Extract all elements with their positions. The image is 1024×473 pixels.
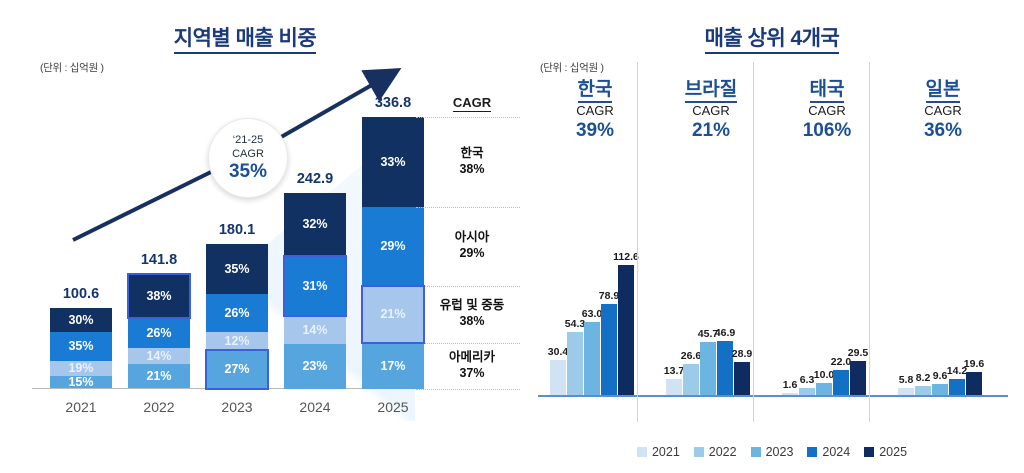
cagr-guide-line (416, 389, 520, 390)
country-bar-브라질-2023[interactable]: 45.7 (700, 342, 716, 395)
legend-swatch-icon (807, 447, 817, 457)
legend-item-2025[interactable]: 2025 (864, 445, 907, 459)
country-cagr-label: CAGR (656, 102, 766, 119)
regional-revenue-panel: 지역별 매출 비중 (단위 : 십억원 ) ‘21-25 CAGR 35% 10… (0, 0, 520, 473)
bar-segment-한국[interactable]: 38% (128, 274, 190, 318)
country-bar-태국-2023[interactable]: 10.0 (816, 383, 832, 395)
country-baseline (538, 395, 1008, 397)
slide-canvas: 지역별 매출 비중 (단위 : 십억원 ) ‘21-25 CAGR 35% 10… (0, 0, 1024, 473)
bar-segment-아메리카[interactable]: 17% (362, 343, 424, 389)
legend-label: 2021 (652, 445, 680, 459)
country-name: 한국 (540, 78, 650, 102)
bar-segment-유럽 및 중동[interactable]: 19% (50, 361, 112, 376)
bar-segment-아시아[interactable]: 31% (284, 256, 346, 317)
column-total-label: 336.8 (375, 95, 411, 111)
column-total-label: 100.6 (63, 286, 99, 302)
cagr-bubble-period: ‘21-25 (233, 133, 264, 147)
region-cagr-value: 37% (424, 365, 520, 381)
bar-segment-유럽 및 중동[interactable]: 21% (362, 286, 424, 343)
stacked-column-2025[interactable]: 336.833%29%21%17%2025 (362, 117, 424, 389)
country-bar-태국-2024[interactable]: 22.0 (833, 370, 849, 395)
stacked-column-2023[interactable]: 180.135%26%12%27%2023 (206, 244, 268, 389)
region-name: 한국 (424, 145, 520, 161)
country-header-태국[interactable]: 태국CAGR106% (772, 78, 882, 142)
cagr-guide-line (416, 343, 520, 344)
bar-segment-아시아[interactable]: 26% (128, 318, 190, 348)
right-unit-label: (단위 : 십억원 ) (540, 60, 604, 75)
bar-segment-아메리카[interactable]: 21% (128, 364, 190, 388)
country-cagr-value: 36% (888, 119, 998, 142)
bar-segment-유럽 및 중동[interactable]: 14% (284, 316, 346, 343)
x-axis-label-2022: 2022 (143, 399, 174, 415)
legend-swatch-icon (694, 447, 704, 457)
x-axis-label-2024: 2024 (299, 399, 330, 415)
bar-value-label: 8.2 (916, 372, 931, 384)
country-name: 브라질 (656, 78, 766, 102)
top-countries-panel: 매출 상위 4개국 (단위 : 십억원 ) 30.454.363.078.911… (520, 0, 1024, 473)
cagr-legend-header: CAGR (424, 95, 520, 110)
country-header-한국[interactable]: 한국CAGR39% (540, 78, 650, 142)
bar-segment-아시아[interactable]: 26% (206, 294, 268, 332)
country-bar-group-태국: 1.66.310.022.029.5 (782, 361, 866, 395)
bar-segment-아시아[interactable]: 29% (362, 207, 424, 286)
bar-value-label: 29.5 (848, 347, 868, 359)
country-bar-group-한국: 30.454.363.078.9112.6 (550, 265, 634, 395)
column-total-label: 180.1 (219, 222, 255, 238)
country-cagr-value: 21% (656, 119, 766, 142)
x-axis-label-2025: 2025 (377, 399, 408, 415)
region-name: 아메리카 (424, 349, 520, 365)
left-chart-title: 지역별 매출 비중 (30, 22, 460, 55)
country-header-일본[interactable]: 일본CAGR36% (888, 78, 998, 142)
country-bar-한국-2025[interactable]: 112.6 (618, 265, 634, 395)
stacked-column-2021[interactable]: 100.630%35%19%15%2021 (50, 308, 112, 389)
country-bars-plot: 30.454.363.078.9112.613.726.645.746.928.… (520, 240, 1024, 425)
country-bar-group-브라질: 13.726.645.746.928.9 (666, 341, 750, 395)
country-bar-브라질-2024[interactable]: 46.9 (717, 341, 733, 395)
region-cagr-value: 29% (424, 245, 520, 261)
region-cagr-legend: CAGR 한국38%아시아29%유럽 및 중동38%아메리카37% (424, 95, 520, 425)
bar-segment-한국[interactable]: 32% (284, 193, 346, 256)
column-total-label: 141.8 (141, 252, 177, 268)
bar-value-label: 30.4 (548, 346, 568, 358)
legend-label: 2023 (766, 445, 794, 459)
country-bar-한국-2022[interactable]: 54.3 (567, 332, 583, 395)
stacked-bar: 32%31%14%23% (284, 193, 346, 389)
bar-segment-아메리카[interactable]: 15% (50, 376, 112, 388)
country-bar-일본-2024[interactable]: 14.2 (949, 379, 965, 395)
country-bar-group-일본: 5.88.29.614.219.6 (898, 372, 982, 395)
legend-label: 2024 (822, 445, 850, 459)
bar-value-label: 1.6 (783, 379, 798, 391)
region-name: 아시아 (424, 229, 520, 245)
country-bar-일본-2021[interactable]: 5.8 (898, 388, 914, 395)
bar-value-label: 9.6 (933, 370, 948, 382)
stacked-bar: 38%26%14%21% (128, 274, 190, 389)
cagr-bubble-label: CAGR (232, 147, 264, 161)
bar-value-label: 63.0 (582, 308, 602, 320)
legend-swatch-icon (751, 447, 761, 457)
cagr-guide-line (416, 117, 520, 118)
country-bar-한국-2021[interactable]: 30.4 (550, 360, 566, 395)
bar-segment-아시아[interactable]: 35% (50, 332, 112, 360)
bar-value-label: 10.0 (814, 369, 834, 381)
bar-segment-유럽 및 중동[interactable]: 12% (206, 332, 268, 349)
country-bar-태국-2022[interactable]: 6.3 (799, 388, 815, 395)
region-cagr-item-아메리카: 아메리카37% (424, 349, 520, 381)
bar-value-label: 19.6 (964, 358, 984, 370)
legend-label: 2025 (879, 445, 907, 459)
bar-value-label: 46.9 (715, 327, 735, 339)
country-header-브라질[interactable]: 브라질CAGR21% (656, 78, 766, 142)
country-bar-태국-2021[interactable]: 1.6 (782, 393, 798, 395)
x-axis-label-2023: 2023 (221, 399, 252, 415)
cagr-guide-line (416, 286, 520, 287)
country-bar-브라질-2022[interactable]: 26.6 (683, 364, 699, 395)
country-bar-한국-2023[interactable]: 63.0 (584, 322, 600, 395)
bar-segment-아메리카[interactable]: 27% (206, 350, 268, 389)
country-bar-브라질-2021[interactable]: 13.7 (666, 379, 682, 395)
legend-item-2022[interactable]: 2022 (694, 445, 737, 459)
stacked-bar: 33%29%21%17% (362, 117, 424, 389)
bar-value-label: 28.9 (732, 348, 752, 360)
stacked-bar: 35%26%12%27% (206, 244, 268, 389)
region-cagr-item-유럽 및 중동: 유럽 및 중동38% (424, 297, 520, 329)
country-cagr-label: CAGR (888, 102, 998, 119)
country-bar-일본-2022[interactable]: 8.2 (915, 386, 931, 395)
country-cagr-value: 106% (772, 119, 882, 142)
stacked-column-2022[interactable]: 141.838%26%14%21%2022 (128, 274, 190, 389)
legend-swatch-icon (637, 447, 647, 457)
bar-segment-아메리카[interactable]: 23% (284, 344, 346, 389)
bar-segment-유럽 및 중동[interactable]: 14% (128, 348, 190, 364)
cagr-guide-line (416, 207, 520, 208)
bar-value-label: 13.7 (664, 365, 684, 377)
country-name: 일본 (888, 78, 998, 102)
bar-value-label: 112.6 (613, 251, 639, 263)
country-bar-일본-2025[interactable]: 19.6 (966, 372, 982, 395)
cagr-callout-bubble: ‘21-25 CAGR 35% (208, 118, 288, 198)
country-cagr-label: CAGR (772, 102, 882, 119)
legend-item-2023[interactable]: 2023 (751, 445, 794, 459)
legend-item-2024[interactable]: 2024 (807, 445, 850, 459)
country-bar-일본-2023[interactable]: 9.6 (932, 384, 948, 395)
region-name: 유럽 및 중동 (424, 297, 520, 313)
bar-value-label: 26.6 (681, 350, 701, 362)
country-bar-브라질-2025[interactable]: 28.9 (734, 362, 750, 395)
region-cagr-value: 38% (424, 313, 520, 329)
right-chart-title: 매출 상위 4개국 (540, 22, 1004, 55)
bar-segment-한국[interactable]: 35% (206, 244, 268, 295)
region-cagr-value: 38% (424, 161, 520, 177)
country-cagr-value: 39% (540, 119, 650, 142)
bar-value-label: 6.3 (800, 374, 815, 386)
country-bar-한국-2024[interactable]: 78.9 (601, 304, 617, 395)
cagr-bubble-value: 35% (229, 161, 267, 183)
bar-segment-한국[interactable]: 33% (362, 117, 424, 207)
legend-swatch-icon (864, 447, 874, 457)
bar-segment-한국[interactable]: 30% (50, 308, 112, 332)
year-legend: 20212022202320242025 (520, 445, 1024, 459)
region-cagr-item-한국: 한국38% (424, 145, 520, 177)
country-cagr-label: CAGR (540, 102, 650, 119)
bar-value-label: 78.9 (599, 290, 619, 302)
legend-label: 2022 (709, 445, 737, 459)
country-name: 태국 (772, 78, 882, 102)
region-cagr-item-아시아: 아시아29% (424, 229, 520, 261)
legend-item-2021[interactable]: 2021 (637, 445, 680, 459)
stacked-bar: 30%35%19%15% (50, 308, 112, 389)
country-bar-태국-2025[interactable]: 29.5 (850, 361, 866, 395)
column-total-label: 242.9 (297, 171, 333, 187)
stacked-column-2024[interactable]: 242.932%31%14%23%2024 (284, 193, 346, 389)
bar-value-label: 5.8 (899, 374, 914, 386)
x-axis-label-2021: 2021 (65, 399, 96, 415)
